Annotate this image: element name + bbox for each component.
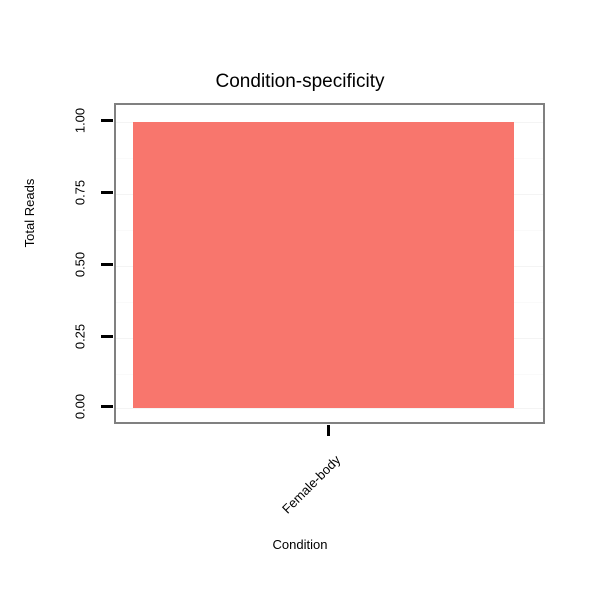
x-axis-title: Condition (0, 537, 600, 553)
y-tick-label-0-00: 0.00 (74, 387, 87, 427)
y-tick-mark-0-25 (101, 335, 113, 338)
bar-chart-figure: Condition-specificity 1.00 0.75 0.50 0.2… (0, 0, 600, 600)
bar-female-body[interactable] (133, 122, 514, 408)
y-tick-label-1-00: 1.00 (74, 101, 87, 141)
y-axis-title: Total Reads (22, 153, 38, 273)
y-tick-mark-0-50 (101, 263, 113, 266)
y-tick-mark-0-75 (101, 191, 113, 194)
y-tick-mark-1-00 (101, 119, 113, 122)
x-tick-mark-female-body (327, 425, 330, 436)
plot-panel (114, 103, 545, 424)
y-tick-label-0-25: 0.25 (74, 317, 87, 357)
y-tick-label-0-75: 0.75 (74, 173, 87, 213)
chart-title: Condition-specificity (0, 70, 600, 94)
plot-panel-inner (116, 105, 543, 422)
x-tick-label-female-body: Female-body (248, 452, 343, 547)
y-tick-label-0-50: 0.50 (74, 245, 87, 285)
gridline-major-0-00 (116, 408, 543, 409)
y-tick-mark-0-00 (101, 405, 113, 408)
